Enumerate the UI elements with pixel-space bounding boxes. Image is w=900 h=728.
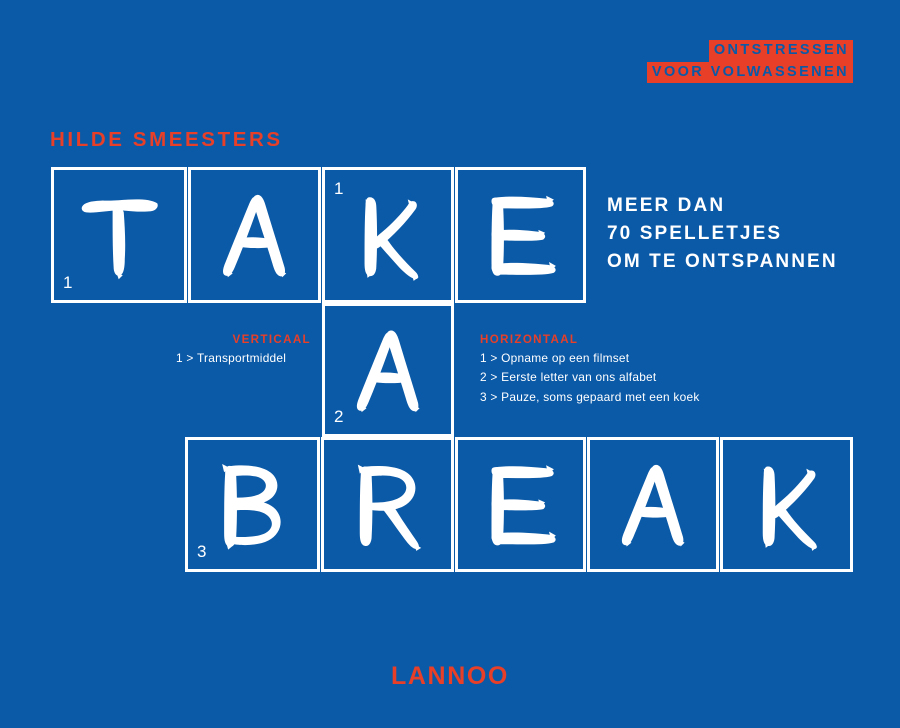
series-badge-line-2: VOOR VOLWASSENEN — [647, 62, 853, 84]
crossword-cell-k2[interactable] — [720, 437, 853, 572]
subtitle-line-3: OM TE ONTSPANNEN — [607, 248, 838, 276]
clue-item: 2 > Eerste letter van ons alfabet — [480, 368, 700, 387]
crossword-cell-r[interactable] — [321, 437, 454, 572]
letter-glyph-k — [723, 440, 850, 569]
clues-vertical-heading: VERTICAAL — [176, 333, 311, 346]
crossword-cell-k1[interactable]: 1 — [322, 167, 454, 303]
publisher-name: LANNOO — [0, 662, 900, 691]
cell-number: 2 — [334, 408, 343, 425]
crossword-cell-t[interactable]: 1 — [51, 167, 187, 303]
subtitle-block: MEER DAN 70 SPELLETJES OM TE ONTSPANNEN — [607, 192, 838, 276]
series-badge-line-1: ONTSTRESSEN — [709, 40, 853, 62]
subtitle-line-1: MEER DAN — [607, 192, 838, 220]
letter-glyph-a — [325, 306, 451, 434]
letter-glyph-e — [458, 440, 583, 569]
book-cover: ONTSTRESSEN VOOR VOLWASSENEN HILDE SMEES… — [0, 0, 900, 728]
clue-item: 3 > Pauze, soms gepaard met een koek — [480, 388, 700, 407]
clues-horizontal: HORIZONTAAL 1 > Opname op een filmset 2 … — [480, 333, 700, 407]
clue-item: 1 > Transportmiddel — [176, 349, 311, 368]
cell-number: 1 — [63, 274, 72, 291]
letter-glyph-b — [188, 440, 317, 569]
cell-number: 3 — [197, 543, 206, 560]
letter-glyph-e — [458, 170, 583, 300]
clue-item: 1 > Opname op een filmset — [480, 349, 700, 368]
letter-glyph-t — [54, 170, 184, 300]
crossword-cell-a3[interactable] — [587, 437, 719, 572]
letter-glyph-a — [590, 440, 716, 569]
crossword-cell-e1[interactable] — [455, 167, 586, 303]
letter-glyph-r — [324, 440, 451, 569]
author-name: HILDE SMEESTERS — [50, 128, 283, 152]
series-badge: ONTSTRESSEN VOOR VOLWASSENEN — [647, 40, 853, 83]
clues-vertical: VERTICAAL 1 > Transportmiddel — [176, 333, 311, 368]
crossword-cell-a1[interactable] — [188, 167, 321, 303]
crossword-cell-b[interactable]: 3 — [185, 437, 320, 572]
crossword-cell-e2[interactable] — [455, 437, 586, 572]
crossword-cell-a2[interactable]: 2 — [322, 303, 454, 437]
clues-horizontal-heading: HORIZONTAAL — [480, 333, 700, 346]
cell-number: 1 — [334, 180, 343, 197]
letter-glyph-k — [325, 170, 451, 300]
subtitle-line-2: 70 SPELLETJES — [607, 220, 838, 248]
letter-glyph-a — [191, 170, 318, 300]
